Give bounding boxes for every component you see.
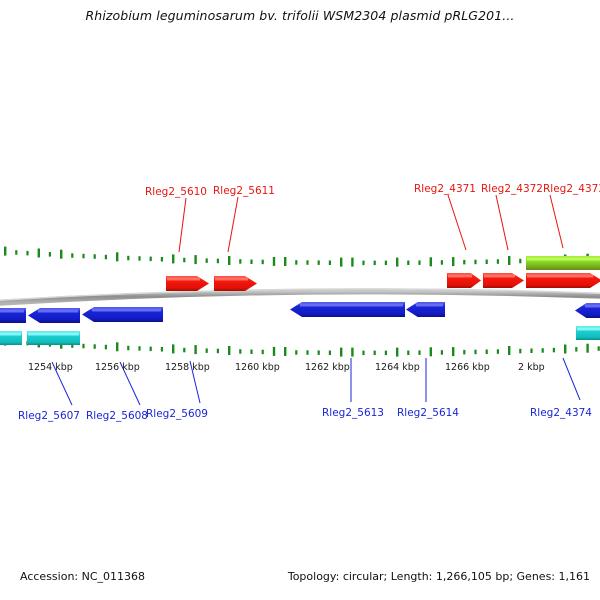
sequence-tick [250,260,252,265]
sequence-tick [463,260,465,265]
genome-map-canvas [0,0,600,600]
gene-leader-line [448,195,466,250]
sequence-tick [553,348,555,353]
sequence-tick [452,257,454,266]
sequence-tick [351,348,353,357]
sequence-tick [172,344,174,353]
sequence-tick [273,347,275,356]
sequence-tick [452,347,454,356]
sequence-tick [284,257,286,266]
sequence-tick [150,347,152,352]
sequence-tick [497,349,499,354]
gene-leader-line [496,195,508,250]
gene-leader-line [563,358,580,400]
sequence-tick [351,258,353,267]
sequence-tick [194,255,196,264]
sequence-tick [418,260,420,265]
genome-viewer: Rhizobium leguminosarum bv. trifolii WSM… [0,0,600,600]
sequence-tick [441,350,443,355]
green-feature-group [526,256,600,270]
genome-backbone [0,289,600,303]
sequence-tick [396,258,398,267]
sequence-tick [586,344,588,353]
gene-highlight [484,275,515,278]
sequence-tick [4,247,6,256]
sequence-tick [418,350,420,355]
sequence-tick [273,257,275,266]
sequence-tick [217,349,219,354]
sequence-tick [329,261,331,266]
gene-label[interactable]: Rleg2_5610 [145,186,207,198]
sequence-tick [194,345,196,354]
sequence-tick [206,348,208,353]
sequence-tick [82,344,84,349]
sequence-tick [15,250,17,255]
sequence-tick-row-top [4,247,600,267]
sequence-tick [183,258,185,263]
sequence-tick [94,344,96,349]
sequence-tick [127,256,129,260]
axis-tick-label: 1264 kbp [375,362,420,373]
sequence-tick [508,346,510,355]
gene-label[interactable]: Rleg2_5611 [213,185,275,197]
sequence-tick [116,252,118,261]
sequence-tick [486,350,488,355]
sequence-tick [497,259,499,264]
sequence-tick [228,346,230,355]
sequence-tick [71,253,73,257]
sequence-tick [430,347,432,356]
sequence-tick [318,260,320,265]
sequence-tick [486,260,488,265]
sequence-tick [441,260,443,265]
sequence-tick [262,350,264,355]
sequence-tick [598,346,600,351]
gene-highlight [92,309,161,312]
axis-tick-label: 1262 kbp [305,362,350,373]
sequence-tick [239,259,241,264]
sequence-tick [94,254,96,258]
sequence-tick [385,351,387,356]
sequence-tick [318,350,320,355]
accession-text: Accession: NC_011368 [20,570,145,583]
axis-tick-label: 1266 kbp [445,362,490,373]
gene-label[interactable]: Rleg2_4371 [414,183,476,195]
sequence-tick [374,261,376,266]
sequence-tick [116,342,118,351]
sequence-tick [374,351,376,356]
gene-label[interactable]: Rleg2_5608 [86,410,148,422]
sequence-tick [430,257,432,266]
gene-highlight [448,275,472,278]
gene-label[interactable]: Rleg2_5613 [322,407,384,419]
sequence-tick [463,350,465,355]
sequence-tick [340,348,342,357]
sequence-tick [575,347,577,352]
gene-leader-line [228,197,238,252]
sequence-tick [161,257,163,262]
gene-highlight [527,275,593,278]
sequence-tick [60,250,62,259]
cyan-feature-highlight [0,333,21,336]
gene-highlight [416,304,443,307]
sequence-tick [385,261,387,266]
cyan-feature-group [0,326,600,345]
cyan-feature-highlight [577,328,600,331]
sequence-tick-row-bottom [4,337,600,357]
axis-tick-label: 1254 kbp [28,362,73,373]
sequence-tick [183,348,185,353]
sequence-tick [105,255,107,259]
sequence-tick [49,252,51,257]
gene-leader-line [550,195,563,248]
sequence-tick [508,256,510,265]
cyan-feature-highlight [28,333,79,336]
sequence-tick [228,256,230,265]
sequence-tick [306,350,308,355]
axis-tick-label: 1258 kbp [165,362,210,373]
gene-highlight [585,305,600,308]
gene-highlight [38,310,78,313]
sequence-tick [519,349,521,354]
sequence-tick [206,258,208,263]
sequence-tick [82,254,84,258]
axis-tick-label: 1256 kbp [95,362,140,373]
gene-label[interactable]: Rleg2_5609 [146,408,208,420]
axis-tick-label: 1260 kbp [235,362,280,373]
sequence-tick [150,257,152,262]
sequence-tick [329,351,331,356]
sequence-tick [161,347,163,352]
sequence-tick [530,349,532,354]
axis-tick-label: 2 kbp [518,362,545,373]
gene-label[interactable]: Rleg2_4372 [481,183,543,195]
sequence-tick [217,259,219,264]
sequence-tick [474,260,476,265]
sequence-tick [172,254,174,263]
sequence-tick [127,346,129,351]
sequence-tick [542,348,544,353]
sequence-tick [295,260,297,265]
reverse-gene-group [0,302,600,323]
sequence-tick [474,350,476,355]
gene-highlight [300,304,403,307]
gene-highlight [0,310,24,313]
sequence-tick [407,261,409,266]
sequence-tick [105,345,107,350]
genome-metadata-text: Topology: circular; Length: 1,266,105 bp… [288,570,590,583]
sequence-tick [362,351,364,356]
sequence-tick [138,256,140,261]
gene-label[interactable]: Rleg2_4373 [543,183,600,195]
sequence-tick [396,348,398,357]
sequence-tick [138,346,140,351]
gene-highlight [215,278,248,281]
sequence-tick [340,258,342,267]
sequence-tick [38,249,40,258]
sequence-tick [564,345,566,354]
sequence-tick [239,349,241,354]
gene-highlight [167,278,200,281]
green-feature-highlight [527,258,600,261]
sequence-tick [306,260,308,265]
gene-label[interactable]: Rleg2_5614 [397,407,459,419]
gene-leader-lines-top [179,195,563,252]
sequence-tick [362,261,364,266]
gene-label[interactable]: Rleg2_4374 [530,407,592,419]
sequence-tick [295,350,297,355]
sequence-tick [519,259,521,264]
sequence-tick [407,351,409,356]
sequence-tick [262,260,264,265]
sequence-tick [284,347,286,356]
sequence-tick [250,350,252,355]
footer: Accession: NC_011368 Topology: circular;… [0,570,600,586]
sequence-tick [26,251,28,256]
gene-leader-line [179,198,186,252]
gene-label[interactable]: Rleg2_5607 [18,410,80,422]
